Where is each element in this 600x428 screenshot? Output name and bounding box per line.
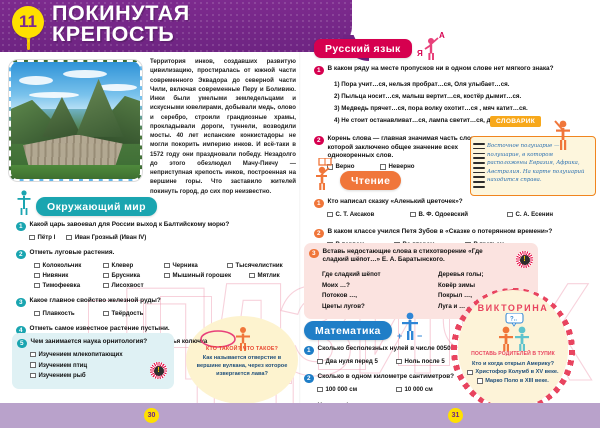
checkbox[interactable] (30, 362, 36, 368)
option[interactable]: С. А. Есенин (507, 211, 553, 218)
page-number-left: 30 (144, 408, 159, 423)
question-text: Какое главное свойство железной руды? (30, 297, 161, 307)
person-orange-icon (499, 327, 513, 351)
checkbox[interactable] (103, 283, 109, 289)
answer-line[interactable]: 1) Пора учит…ся, нельзя пробрат…ся, Оля … (334, 79, 590, 91)
checkbox[interactable] (396, 359, 402, 365)
cloud-icon (29, 92, 79, 98)
question-text: Какой царь завоевал для России выход к Б… (30, 221, 230, 231)
person-teal-icon (16, 190, 32, 216)
quiz-title: ВИКТОРИНА (452, 303, 574, 313)
option[interactable]: Клевер (103, 262, 153, 269)
option-label: С. А. Есенин (516, 211, 554, 218)
section-math-label: Математика (304, 321, 392, 340)
question-number: 3 (16, 298, 26, 308)
checkbox[interactable] (317, 387, 323, 393)
checkbox[interactable] (507, 212, 513, 218)
question-number: 1 (314, 199, 324, 209)
checkbox[interactable] (477, 378, 483, 384)
option-label: Тимофеевка (43, 282, 81, 289)
option[interactable]: 10 000 см (396, 386, 433, 393)
option[interactable]: Пётр I (29, 234, 55, 241)
option-label: Брусника (112, 272, 141, 279)
option-label: Ноль после 5 (405, 358, 445, 365)
who-what-title: КТО ТАКОЙ? ЧТО ТАКОЕ? (190, 346, 294, 352)
checkbox[interactable] (30, 352, 36, 358)
option-label: Христофор Колумб в XV веке. (475, 368, 558, 376)
workbook-page-spread: П Д З И Ч К ПОКИНУТАЯ КРЕПОСТЬ 11 Террит… (0, 0, 600, 428)
option-label: 10 000 см (405, 386, 433, 393)
page-footer: 30 31 (0, 403, 600, 428)
option-label: В. Ф. Одоевский (419, 211, 468, 218)
world-q5-options: Изучением млекопитающих Изучением птиц И… (30, 351, 167, 379)
option-label: Мышиный горошек (173, 272, 232, 279)
quiz-question: Кто и когда открыл Америку? Христофор Ко… (460, 360, 566, 385)
world-q3-options: Плавкость Твёрдость (34, 310, 294, 320)
checkbox[interactable] (410, 212, 416, 218)
question-number: 2 (314, 136, 324, 146)
option[interactable]: Христофор Колумб в XV веке. (460, 368, 566, 376)
page-gutter (299, 0, 301, 403)
world-question-1: 1 Какой царь завоевал для России выход к… (16, 221, 294, 231)
answer-line[interactable]: 2) Пыльца носит…ся, малыш вертит…ся, кос… (334, 91, 590, 103)
section-world: Окружающий мир 1 Какой царь завоевал для… (16, 190, 294, 348)
option-label: Тысячелистник (236, 262, 283, 269)
slovarik-note-text: Восточное полушарие — полушарие, в котор… (487, 142, 591, 185)
world-question-2: 2 Отметь луговые растения. (16, 249, 294, 259)
slovarik-note: Восточное полушарие — полушарие, в котор… (470, 136, 596, 196)
world-question-5: 5 Чем занимается наука орнитология? (17, 338, 167, 348)
person-blue-plusminus-icon: + − (396, 311, 424, 341)
option[interactable]: Плавкость (34, 310, 92, 317)
section-reading-label: Чтение (340, 171, 401, 190)
spiral-binding-icon (473, 143, 485, 191)
world-q2-options: Колокольчик Клевер Черника Тысячелистник… (34, 262, 294, 292)
person-teal-icon (515, 327, 529, 351)
quiz-subtitle: ПОСТАВЬ РОДИТЕЛЕЙ В ТУПИК (458, 351, 568, 357)
checkbox[interactable] (66, 235, 72, 241)
hint-lamp-icon[interactable]: ! (150, 362, 167, 379)
option[interactable]: Ноль после 5 (396, 358, 445, 365)
hint-lamp-icon[interactable]: ! (516, 251, 533, 268)
hint-bulb: ! (520, 255, 530, 265)
checkbox[interactable] (227, 263, 233, 269)
poem-line[interactable]: Где сладкий шёпот (322, 270, 438, 281)
russian-question-2: 2 Корень слова — главная значимая часть … (314, 135, 486, 160)
reading-question-2: 2 В каком классе учился Петя Зубов в «Ск… (314, 228, 590, 238)
checkbox[interactable] (164, 273, 170, 279)
page-number-right: 31 (448, 408, 463, 423)
question-number: 3 (309, 249, 319, 259)
option-label: С. Т. Аксаков (336, 211, 375, 218)
option[interactable]: Черника (164, 262, 216, 269)
question-text: Кто написал сказку «Аленький цветочек»? (328, 198, 463, 208)
question-text: Корень слова — главная значимая часть сл… (328, 135, 487, 160)
checkbox[interactable] (317, 359, 323, 365)
checkbox[interactable] (29, 235, 35, 241)
world-question-3: 3 Какое главное свойство железной руды? (16, 297, 294, 307)
option-label: Плавкость (43, 310, 75, 317)
checkbox[interactable] (34, 263, 40, 269)
option-label: Изучением млекопитающих (39, 351, 123, 358)
option[interactable]: Твёрдость (103, 310, 143, 317)
option-label: Иван Грозный (Иван IV) (75, 234, 146, 241)
poem-left-column: Где сладкий шёпот Моих …? Потоков …, Цве… (322, 270, 438, 313)
svg-text:Я: Я (417, 49, 423, 58)
question-number: 1 (304, 346, 314, 356)
who-what-question: Как называется отверстие в вершине вулка… (190, 355, 294, 379)
cloud-icon (19, 76, 53, 85)
question-text: Сколько в одном километре сантиметров? (318, 373, 455, 383)
option-label: Нивяник (43, 272, 69, 279)
checkbox[interactable] (103, 311, 109, 317)
option[interactable]: Нивяник (34, 272, 92, 279)
option-label: Лисохвост (112, 282, 144, 289)
svg-text:−: − (417, 331, 422, 341)
question-number: 2 (304, 374, 314, 384)
checkbox[interactable] (34, 311, 40, 317)
checkbox[interactable] (467, 370, 473, 376)
section-world-header: Окружающий мир (16, 190, 294, 216)
option[interactable]: Два нуля перед 5 (317, 358, 385, 365)
reading-question-3: 3 Вставь недостающие слова в стихотворен… (309, 248, 495, 265)
option-label: Изучением рыб (39, 372, 86, 379)
option-label: Два нуля перед 5 (326, 358, 378, 365)
question-text: В каком классе учился Петя Зубов в «Сказ… (328, 228, 553, 238)
world-question-5-panel: 5 Чем занимается наука орнитология? Изуч… (12, 333, 174, 389)
answer-line[interactable]: 3) Медведь прячет…ся, пора волку охотит…… (334, 103, 590, 115)
option[interactable]: Изучением птиц (30, 362, 156, 369)
quiz-badge: ВИКТОРИНА ?.. ПОСТАВЬ РОДИТЕЛЕЙ В ТУПИК (452, 289, 574, 411)
checkbox[interactable] (103, 273, 109, 279)
option[interactable]: Изучением млекопитающих (30, 351, 156, 358)
option[interactable]: Изучением рыб (30, 372, 156, 379)
option[interactable]: Брусника (103, 272, 153, 279)
option-label: Колокольчик (43, 262, 82, 269)
option-label: Твёрдость (112, 310, 144, 317)
page-title: ПОКИНУТАЯ КРЕПОСТЬ (52, 3, 344, 46)
checkbox[interactable] (30, 373, 36, 379)
question-text: Сколько бесполезных нулей в числе 0050? (318, 345, 455, 355)
poem-line[interactable]: Потоков …, (322, 291, 438, 302)
option-label: Марко Поло в XIII веке. (485, 377, 549, 385)
question-text: Чем занимается наука орнитология? (31, 338, 148, 348)
question-number: 2 (16, 250, 26, 260)
option-label: Клевер (112, 262, 134, 269)
checkbox[interactable] (164, 263, 170, 269)
question-number: 1 (314, 66, 324, 76)
option[interactable]: Лисохвост (103, 282, 144, 289)
chapter-header-banner: ПОКИНУТАЯ КРЕПОСТЬ (0, 0, 352, 52)
question-text: Отметь луговые растения. (30, 249, 115, 259)
world-q1-options: Пётр I Иван Грозный (Иван IV) (29, 234, 294, 244)
foreground-grass (11, 165, 140, 179)
slovarik-tab-label[interactable]: СЛОВАРИК (490, 116, 541, 127)
svg-text:+: + (397, 331, 402, 341)
quiz-people-icons: ?.. (490, 313, 538, 351)
option-label: 100 000 см (326, 386, 358, 393)
option-label: Изучением птиц (39, 362, 88, 369)
person-orange-book-icon (314, 158, 336, 190)
option[interactable]: В. Ф. Одоевский (410, 211, 496, 218)
option[interactable]: С. Т. Аксаков (327, 211, 399, 218)
checkbox[interactable] (34, 283, 40, 289)
checkbox[interactable] (103, 263, 109, 269)
chapter-number: 11 (12, 6, 44, 38)
intro-paragraph: Территория инков, создавших развитую цив… (150, 57, 296, 196)
option[interactable]: Марко Поло в XIII веке. (460, 377, 566, 385)
chapter-number-pin: 11 (12, 6, 46, 50)
option[interactable]: 100 000 см (317, 386, 385, 393)
option[interactable]: Иван Грозный (Иван IV) (66, 234, 146, 241)
question-number: 5 (17, 339, 27, 349)
cloud-icon (63, 70, 107, 78)
checkbox[interactable] (327, 212, 333, 218)
question-number: 2 (314, 229, 324, 239)
reading-q1-options: С. Т. Аксаков В. Ф. Одоевский С. А. Есен… (327, 211, 590, 221)
svg-text:?..: ?.. (510, 317, 517, 323)
section-russian-label: Русский язык (314, 39, 412, 58)
option[interactable]: Тысячелистник (227, 262, 283, 269)
option-label: Мятлик (258, 272, 280, 279)
checkbox[interactable] (249, 273, 255, 279)
poem-line[interactable]: Деревья голы; (438, 270, 483, 281)
section-russian-header: Русский язык Я А (314, 30, 590, 58)
poem-line[interactable]: Моих …? (322, 281, 438, 292)
question-number: 1 (16, 222, 26, 232)
option[interactable]: Мятлик (249, 272, 280, 279)
option-label: Пётр I (38, 234, 56, 241)
section-world-label: Окружающий мир (36, 197, 157, 216)
svg-text:А: А (439, 31, 445, 40)
checkbox[interactable] (396, 387, 402, 393)
checkbox[interactable] (34, 273, 40, 279)
option-label: Черника (173, 262, 198, 269)
question-text: Вставь недостающие слова в стихотворение… (323, 248, 496, 265)
reading-question-1: 1 Кто написал сказку «Аленький цветочек»… (314, 198, 590, 208)
machu-picchu-photo (9, 60, 142, 181)
hint-bulb: ! (154, 366, 164, 376)
russian-question-1: 1 В каком ряду на месте пропусков ни в о… (314, 65, 590, 75)
person-orange-pointing-icon (552, 119, 574, 153)
quiz-question-text: Кто и когда открыл Америку? (460, 360, 566, 368)
option[interactable]: Тимофеевка (34, 282, 92, 289)
question-text: В каком ряду на месте пропусков ни в одн… (328, 65, 554, 75)
option[interactable]: Мышиный горошек (164, 272, 238, 279)
person-crimson-icon: Я А (416, 30, 450, 60)
option[interactable]: Колокольчик (34, 262, 92, 269)
